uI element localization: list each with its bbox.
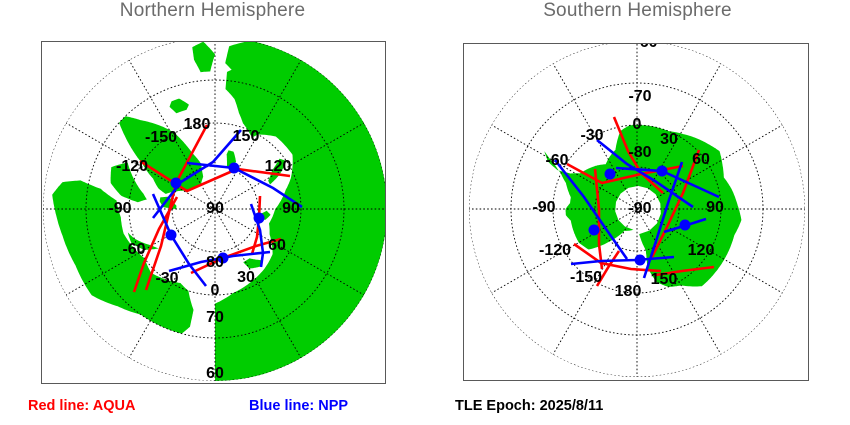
longitude-label-180: 180 <box>184 116 211 133</box>
satellite-marker <box>254 213 265 224</box>
southern-hemisphere-title: Southern Hemisphere <box>425 0 850 22</box>
longitude-label-60: 60 <box>268 237 286 254</box>
longitude-label--120: -120 <box>116 158 148 175</box>
legend-aqua: Red line: AQUA <box>28 398 135 414</box>
northern-plot-frame: 0306090120150180-150-120-90-60-309080706… <box>41 41 386 384</box>
latitude-label--60: -60 <box>634 44 657 51</box>
longitude-label--150: -150 <box>145 129 177 146</box>
satellite-marker <box>229 163 240 174</box>
southern-polar-plot: 0306090120150180-150-120-90-60-30-60-70-… <box>464 44 809 381</box>
northern-hemisphere-panel: Northern Hemisphere 0306090120150180-150… <box>0 0 425 390</box>
satellite-marker <box>657 166 668 177</box>
latitude-label-60: 60 <box>206 365 224 382</box>
satellite-marker <box>605 169 616 180</box>
northern-hemisphere-title: Northern Hemisphere <box>0 0 425 22</box>
latitude-label-70: 70 <box>206 309 224 326</box>
satellite-marker <box>635 255 646 266</box>
southern-plot-frame: 0306090120150180-150-120-90-60-30-60-70-… <box>463 43 809 381</box>
longitude-label-90: 90 <box>706 199 724 216</box>
longitude-label-120: 120 <box>265 158 292 175</box>
polar-tracks-figure: Northern Hemisphere 0306090120150180-150… <box>0 0 850 425</box>
longitude-label--120: -120 <box>539 242 571 259</box>
longitude-label-150: 150 <box>233 128 260 145</box>
longitude-label--90: -90 <box>532 199 555 216</box>
longitude-label-90: 90 <box>282 200 300 217</box>
latitude-label-80: 80 <box>206 254 224 271</box>
longitude-label-60: 60 <box>692 151 710 168</box>
northern-polar-plot: 0306090120150180-150-120-90-60-309080706… <box>42 42 386 384</box>
latitude-label--70: -70 <box>628 88 651 105</box>
longitude-label-180: 180 <box>615 283 642 300</box>
longitude-label--60: -60 <box>122 241 145 258</box>
longitude-label--90: -90 <box>108 200 131 217</box>
longitude-label--60: -60 <box>545 152 568 169</box>
satellite-marker <box>171 178 182 189</box>
satellite-marker <box>680 220 691 231</box>
longitude-label-120: 120 <box>688 242 715 259</box>
latitude-label-90: 90 <box>206 200 224 217</box>
longitude-label--30: -30 <box>580 127 603 144</box>
satellite-marker <box>589 225 600 236</box>
longitude-label--150: -150 <box>570 269 602 286</box>
longitude-label-30: 30 <box>660 131 678 148</box>
satellite-marker <box>166 230 177 241</box>
longitude-label-150: 150 <box>651 271 678 288</box>
longitude-label--30: -30 <box>155 270 178 287</box>
southern-hemisphere-panel: Southern Hemisphere 0306090120150180-150… <box>425 0 850 390</box>
legend-npp: Blue line: NPP <box>249 398 348 414</box>
latitude-label--90: -90 <box>628 200 651 217</box>
longitude-label-0: 0 <box>211 282 220 299</box>
longitude-label-30: 30 <box>237 269 255 286</box>
longitude-label-0: 0 <box>633 116 642 133</box>
tle-epoch-label: TLE Epoch: 2025/8/11 <box>455 398 603 414</box>
latitude-label--80: -80 <box>628 144 651 161</box>
